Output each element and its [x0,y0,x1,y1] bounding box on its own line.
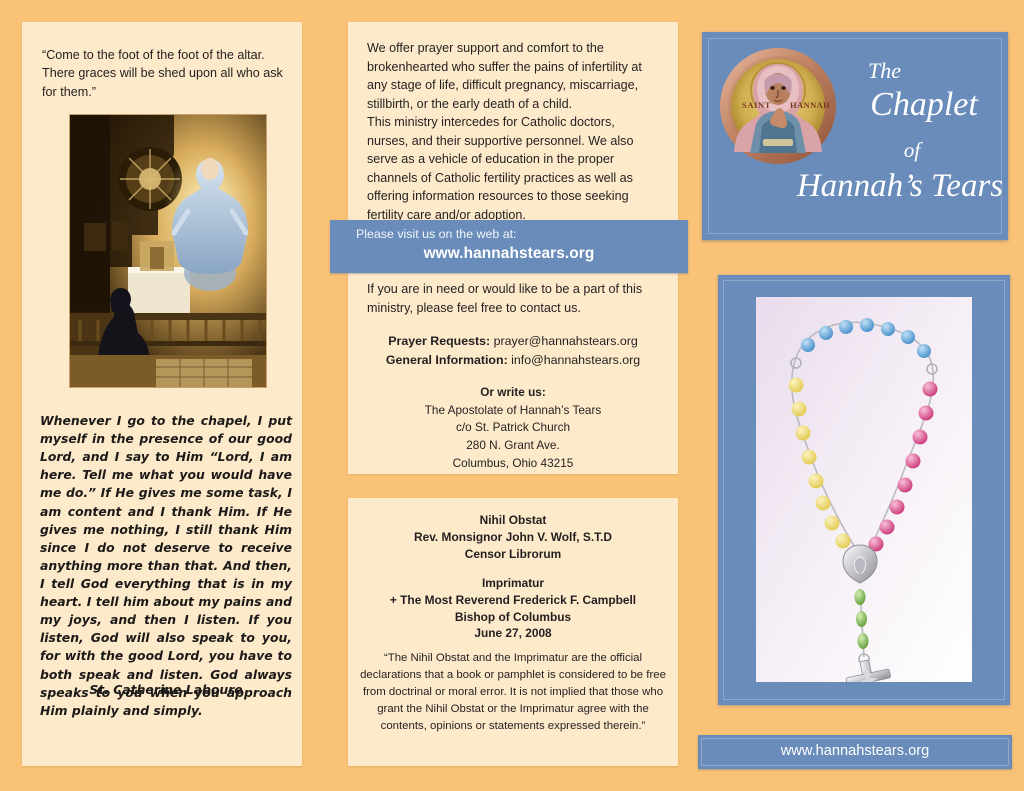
mailing-address-block: Or write us: The Apostolate of Hannah’s … [358,384,668,472]
imprimatur-name: + The Most Reverend Frederick F. Campbel… [358,592,668,609]
approval-block: Nihil Obstat Rev. Monsignor John V. Wolf… [358,512,668,642]
imprimatur-date: June 27, 2008 [358,625,668,642]
svg-text:HANNAH: HANNAH [790,100,830,110]
imprimatur-heading: Imprimatur [358,575,668,592]
nihil-obstat-role: Censor Librorum [358,546,668,563]
rosary-photo-frame [718,275,1010,705]
quote-attribution: St. Catherine Laboure [40,682,292,697]
contact-intro-text: If you are in need or would like to be a… [367,280,662,317]
mailing-line-3: 280 N. Grant Ave. [358,437,668,455]
prayer-requests-email[interactable]: prayer@hannahstears.org [494,334,638,348]
title-word-of: of [842,138,982,163]
chaplet-rosary-photo [756,297,972,682]
approval-spacer [358,563,668,575]
laboure-quote-text: Whenever I go to the chapel, I put mysel… [40,412,292,720]
mailing-line-4: Columbus, Ohio 43215 [358,455,668,473]
svg-text:SAINT: SAINT [742,100,771,110]
general-information-row: General Information: info@hannahstears.o… [358,351,668,370]
altar-quote-text: “Come to the foot of the foot of the alt… [42,46,290,101]
imprimatur-panel: Nihil Obstat Rev. Monsignor John V. Wolf… [348,498,678,766]
title-words-hannahs-tears: Hannah’s Tears [750,168,1024,205]
title-word-chaplet: Chaplet [844,86,1004,124]
title-word-the: The [868,58,901,84]
prayer-requests-row: Prayer Requests: prayer@hannahstears.org [358,332,668,351]
mission-statement-text: We offer prayer support and comfort to t… [367,39,659,224]
chapel-apparition-painting [69,114,267,388]
web-banner-url[interactable]: www.hannahstears.org [330,245,688,263]
footer-url-text[interactable]: www.hannahstears.org [698,743,1012,759]
nihil-obstat-heading: Nihil Obstat [358,512,668,529]
brochure-page: “Come to the foot of the foot of the alt… [0,0,1024,791]
imprimatur-role: Bishop of Columbus [358,609,668,626]
prayer-requests-label: Prayer Requests: [388,334,490,348]
web-banner-prompt: Please visit us on the web at: [356,227,516,241]
email-contact-list: Prayer Requests: prayer@hannahstears.org… [358,332,668,370]
left-column-panel: “Come to the foot of the foot of the alt… [22,22,302,766]
general-information-email[interactable]: info@hannahstears.org [511,353,640,367]
cover-title-text: The Chaplet of Hannah’s Tears [842,38,1004,234]
web-visit-banner[interactable]: Please visit us on the web at: www.hanna… [330,220,688,273]
saint-hannah-medallion-icon: SAINT HANNAH [718,46,838,166]
mailing-line-1: The Apostolate of Hannah’s Tears [358,402,668,420]
nihil-obstat-name: Rev. Monsignor John V. Wolf, S.T.D [358,529,668,546]
imprimatur-disclaimer-text: “The Nihil Obstat and the Imprimatur are… [360,650,666,736]
website-footer-bar[interactable]: www.hannahstears.org [698,735,1012,769]
mailing-heading: Or write us: [358,384,668,402]
general-information-label: General Information: [386,353,508,367]
mailing-line-2: c/o St. Patrick Church [358,419,668,437]
cover-title-block: SAINT HANNAH The Chaplet of Hannah’s Tea… [702,32,1008,240]
